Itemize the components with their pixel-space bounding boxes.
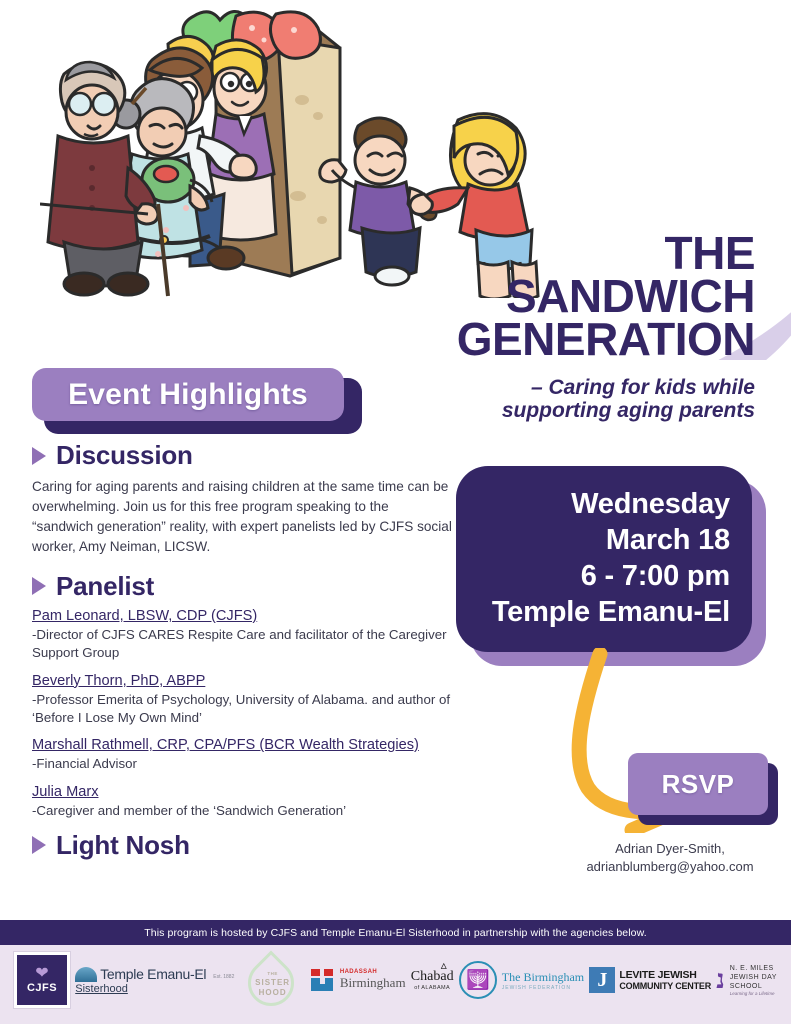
poster-canvas: THE SANDWICH GENERATION – Caring for kid… xyxy=(0,0,791,1024)
panelist-item: Pam Leonard, LBSW, CDP (CJFS) -Director … xyxy=(32,608,452,663)
logo-cjfs: ❤ CJFS xyxy=(14,952,70,1008)
logo-temple-est: Est. 1882 xyxy=(213,974,234,980)
panelist-name: Julia Marx xyxy=(32,784,452,800)
panelist-heading: Panelist xyxy=(56,571,154,602)
sponsor-logo-row: ❤ CJFS Temple Emanu-El Est. 1882 Sisterh… xyxy=(0,945,791,1007)
event-date: March 18 xyxy=(606,523,730,559)
panelist-item: Marshall Rathmell, CRP, CPA/PFS (BCR Wea… xyxy=(32,737,452,773)
logo-chabad-name: Chabad xyxy=(411,969,454,984)
jcc-text-group: LEVITE JEWISH COMMUNITY CENTER xyxy=(619,969,711,991)
logo-sisterhood-sub: HOOD xyxy=(259,988,287,997)
temple-logo-row: Temple Emanu-El Est. 1882 xyxy=(75,966,234,982)
logo-nem-tagline: Learning for a Lifetime xyxy=(730,991,777,996)
logo-chabad-sublabel: of ALABAMA xyxy=(414,985,450,991)
federation-text-group: The Birmingham JEWISH FEDERATION xyxy=(502,970,584,991)
logo-birmingham-federation: 🕎 The Birmingham JEWISH FEDERATION xyxy=(459,961,584,999)
nem-text-group: N. E. MILES JEWISH DAY SCHOOL Learning f… xyxy=(730,964,777,996)
logo-ne-miles-jewish-day-school: נ N. E. MILES JEWISH DAY SCHOOL Learning… xyxy=(716,964,777,996)
footer: This program is hosted by CJFS and Templ… xyxy=(0,920,791,1024)
logo-temple-label: Temple Emanu-El xyxy=(100,966,206,982)
menorah-icon: 🕎 xyxy=(459,961,497,999)
date-box-body: Wednesday March 18 6 - 7:00 pm Temple Em… xyxy=(456,466,752,652)
panelist-description: -Director of CJFS CARES Respite Care and… xyxy=(32,626,452,663)
discussion-heading: Discussion xyxy=(56,440,193,471)
rsvp-contact-email[interactable]: adrianblumberg@yahoo.com xyxy=(560,858,780,876)
logo-temple-emanu-el: Temple Emanu-El Est. 1882 Sisterhood xyxy=(75,966,234,995)
jcc-mark-icon: J xyxy=(589,967,615,993)
panelist-item: Beverly Thorn, PhD, ABPP -Professor Emer… xyxy=(32,673,452,728)
event-location: Temple Emanu-El xyxy=(492,595,730,631)
logo-federation-sublabel: JEWISH FEDERATION xyxy=(502,985,584,991)
title-line-2: SANDWICH xyxy=(425,275,755,318)
logo-nem-sublabel: JEWISH DAY xyxy=(730,973,777,982)
panelist-item: Julia Marx -Caregiver and member of the … xyxy=(32,784,452,820)
logo-sisterhood: THE SISTER HOOD xyxy=(240,955,306,1005)
poster-subtitle: – Caring for kids while supporting aging… xyxy=(425,376,755,423)
title-line-3: GENERATION xyxy=(425,318,755,361)
panelist-heading-row: Panelist xyxy=(32,571,452,602)
rsvp-label: RSVP xyxy=(662,769,735,800)
event-day: Wednesday xyxy=(571,487,730,523)
content-column: Discussion Caring for aging parents and … xyxy=(32,440,452,867)
logo-federation-label: The Birmingham xyxy=(502,970,584,985)
light-nosh-heading-row: Light Nosh xyxy=(32,830,452,861)
logo-levite-jcc: J LEVITE JEWISH COMMUNITY CENTER xyxy=(589,967,711,993)
logo-nem-sublabel2: SCHOOL xyxy=(730,982,777,991)
panelist-description: -Financial Advisor xyxy=(32,755,452,773)
event-details-box: Wednesday March 18 6 - 7:00 pm Temple Em… xyxy=(456,466,766,666)
logo-jcc-label: LEVITE JEWISH xyxy=(619,969,711,981)
logo-sisterhood-name: SISTER xyxy=(255,978,290,987)
logo-sisterhood-label: THE SISTER HOOD xyxy=(240,968,306,998)
rsvp-button[interactable]: RSVP xyxy=(628,753,778,825)
title-line-1: THE xyxy=(425,232,755,275)
logo-temple-sublabel: Sisterhood xyxy=(75,983,128,995)
footer-banner: This program is hosted by CJFS and Templ… xyxy=(0,920,791,945)
rsvp-contact-name: Adrian Dyer-Smith, xyxy=(560,840,780,858)
rsvp-button-body[interactable]: RSVP xyxy=(628,753,768,815)
panelist-name: Marshall Rathmell, CRP, CPA/PFS (BCR Wea… xyxy=(32,737,452,753)
poster-title-block: THE SANDWICH GENERATION – Caring for kid… xyxy=(425,232,755,423)
footer-banner-text: This program is hosted by CJFS and Templ… xyxy=(144,927,647,939)
hadassah-text-group: HADASSAH Birmingham xyxy=(340,969,406,991)
light-nosh-heading: Light Nosh xyxy=(56,830,190,861)
panelist-description: -Professor Emerita of Psychology, Univer… xyxy=(32,691,452,728)
panelist-name: Beverly Thorn, PhD, ABPP xyxy=(32,673,452,689)
subtitle-line-1: – Caring for kids while xyxy=(425,376,755,400)
triangle-bullet-icon xyxy=(32,577,46,595)
logo-chabad-label: ▵ Chabad xyxy=(411,969,454,985)
banner-body: Event Highlights xyxy=(32,368,344,421)
logo-nem-label: N. E. MILES xyxy=(730,964,777,973)
event-time: 6 - 7:00 pm xyxy=(581,559,730,595)
hebrew-letter-icon: נ xyxy=(716,967,724,993)
synagogue-dome-icon xyxy=(75,967,97,982)
event-highlights-label: Event Highlights xyxy=(68,378,308,412)
logo-jcc-sublabel: COMMUNITY CENTER xyxy=(619,981,711,991)
discussion-body: Caring for aging parents and raising chi… xyxy=(32,477,452,557)
flame-icon: ▵ xyxy=(441,958,447,973)
triangle-bullet-icon xyxy=(32,447,46,465)
hadassah-mark-icon xyxy=(311,969,335,991)
panelist-list: Pam Leonard, LBSW, CDP (CJFS) -Director … xyxy=(32,608,452,820)
logo-cjfs-label: CJFS xyxy=(27,982,57,994)
logo-hadassah-sublabel: Birmingham xyxy=(340,975,406,991)
panelist-description: -Caregiver and member of the ‘Sandwich G… xyxy=(32,802,452,820)
discussion-heading-row: Discussion xyxy=(32,440,452,471)
logo-sisterhood-tiny: THE xyxy=(267,971,278,976)
triangle-bullet-icon xyxy=(32,836,46,854)
logo-hadassah: HADASSAH Birmingham xyxy=(311,969,406,991)
logo-chabad: ▵ Chabad of ALABAMA xyxy=(411,969,454,991)
subtitle-line-2: supporting aging parents xyxy=(425,399,755,423)
rsvp-contact: Adrian Dyer-Smith, adrianblumberg@yahoo.… xyxy=(560,840,780,875)
heart-icon: ❤ xyxy=(35,966,48,982)
panelist-name: Pam Leonard, LBSW, CDP (CJFS) xyxy=(32,608,452,624)
event-highlights-banner: Event Highlights xyxy=(32,368,350,426)
